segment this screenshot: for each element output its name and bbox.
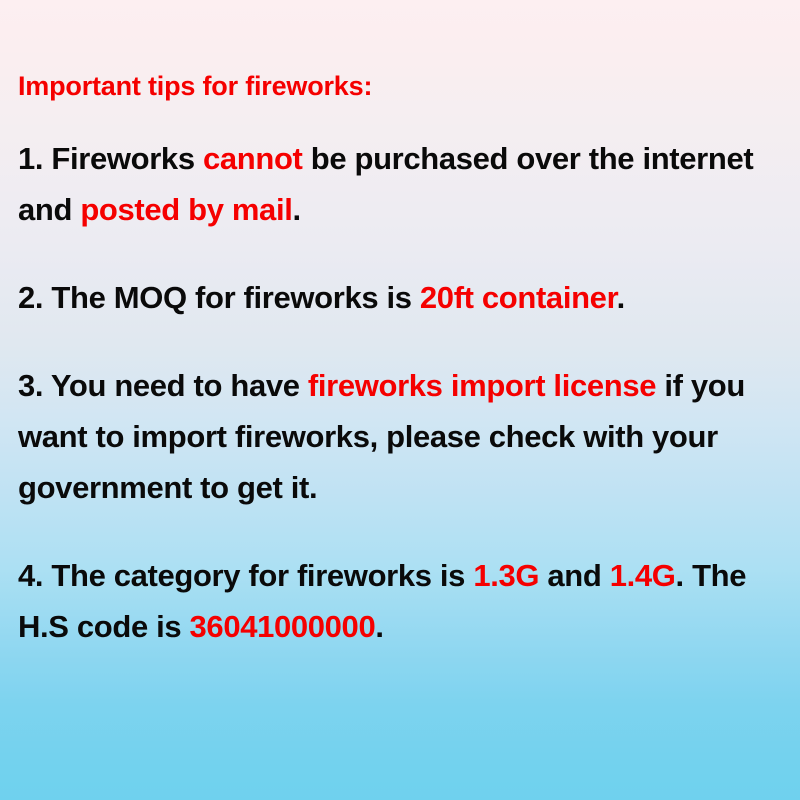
tip-4-part-2: and (539, 558, 610, 593)
fireworks-tips-poster: Important tips for fireworks: 1. Firewor… (0, 0, 800, 800)
poster-content: Important tips for fireworks: 1. Firewor… (18, 0, 782, 652)
tip-4-period: . (375, 609, 383, 644)
tip-1-highlight-posted-by-mail: posted by mail (80, 192, 292, 227)
tip-2-highlight-moq: 20ft container (420, 280, 617, 315)
tip-4-highlight-category-14g: 1.4G (610, 558, 676, 593)
tip-2-period: . (617, 280, 625, 315)
tip-3-part-1: 3. You need to have (18, 368, 308, 403)
tip-item-2: 2. The MOQ for fireworks is 20ft contain… (18, 235, 782, 323)
tip-1-period: . (292, 192, 300, 227)
tip-item-1: 1. Fireworks cannot be purchased over th… (18, 101, 782, 235)
tip-item-4: 4. The category for fireworks is 1.3G an… (18, 513, 782, 652)
page-title: Important tips for fireworks: (18, 0, 782, 101)
tip-2-part-1: 2. The MOQ for fireworks is (18, 280, 420, 315)
tip-4-part-1: 4. The category for fireworks is (18, 558, 473, 593)
tip-4-highlight-category-13g: 1.3G (473, 558, 539, 593)
tip-1-highlight-cannot: cannot (203, 141, 303, 176)
tip-1-part-1: 1. Fireworks (18, 141, 203, 176)
tip-4-highlight-hs-code: 36041000000 (190, 609, 376, 644)
tip-item-3: 3. You need to have fireworks import lic… (18, 323, 782, 513)
tip-3-highlight-license: fireworks import license (308, 368, 656, 403)
